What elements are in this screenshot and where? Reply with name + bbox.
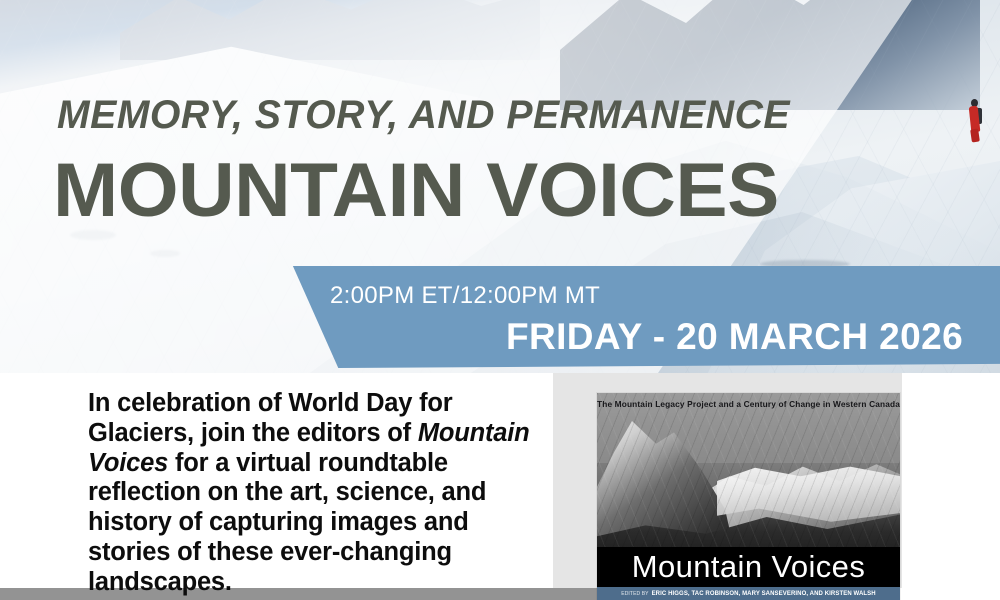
event-poster: MEMORY, STORY, AND PERMANENCE MOUNTAIN V… bbox=[0, 0, 1000, 600]
book-cover: The Mountain Legacy Project and a Centur… bbox=[597, 393, 900, 600]
book-editors-bar: EDITED BY ERIC HIGGS, TAC ROBINSON, MARY… bbox=[597, 587, 900, 600]
poster-title: MOUNTAIN VOICES bbox=[53, 153, 779, 229]
edited-by-label: EDITED BY bbox=[621, 591, 648, 597]
event-date: FRIDAY - 20 MARCH 2026 bbox=[506, 316, 963, 358]
book-photo-texture bbox=[597, 393, 900, 563]
book-cover-photo bbox=[597, 393, 900, 563]
skier-legs bbox=[970, 129, 980, 143]
skier-figure bbox=[968, 98, 982, 144]
event-time: 2:00PM ET/12:00PM MT bbox=[330, 282, 600, 310]
book-editor-names: ERIC HIGGS, TAC ROBINSON, MARY SANSEVERI… bbox=[652, 591, 876, 597]
book-subtitle: The Mountain Legacy Project and a Centur… bbox=[597, 400, 900, 410]
book-title: Mountain Voices bbox=[597, 551, 900, 582]
description-part-1: In celebration of World Day for Glaciers… bbox=[88, 389, 453, 447]
event-description: In celebration of World Day for Glaciers… bbox=[88, 389, 536, 598]
poster-eyebrow: MEMORY, STORY, AND PERMANENCE bbox=[57, 93, 790, 138]
